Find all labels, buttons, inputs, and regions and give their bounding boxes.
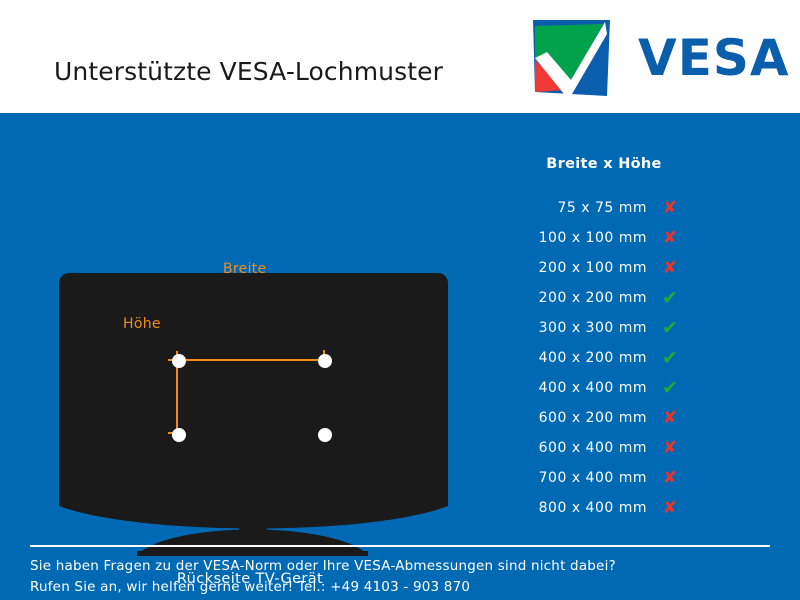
vesa-wordmark: VESA [638,32,790,84]
vesa-size-label: 400 x 400 mm [495,380,647,396]
table-row: 400 x 400 mm✔ [495,373,710,403]
footer-contact-text: Sie haben Fragen zu der VESA-Norm oder I… [30,556,775,598]
table-row: 200 x 200 mm✔ [495,283,710,313]
vesa-size-label: 100 x 100 mm [495,230,647,246]
footer-line-1: Sie haben Fragen zu der VESA-Norm oder I… [30,556,775,577]
vesa-checkmark-logo-icon [533,20,610,96]
vesa-size-label: 700 x 400 mm [495,470,647,486]
vesa-size-label: 600 x 200 mm [495,410,647,426]
supported-check-icon: ✔ [647,289,693,308]
table-row: 75 x 75 mm✘ [495,193,710,223]
unsupported-cross-icon: ✘ [647,260,693,277]
table-row: 700 x 400 mm✘ [495,463,710,493]
table-rows: 75 x 75 mm✘100 x 100 mm✘200 x 100 mm✘200… [495,193,710,523]
vesa-size-label: 75 x 75 mm [495,200,647,216]
table-row: 100 x 100 mm✘ [495,223,710,253]
supported-check-icon: ✔ [647,379,693,398]
footer-divider [30,545,770,547]
vesa-size-label: 200 x 100 mm [495,260,647,276]
unsupported-cross-icon: ✘ [647,200,693,217]
vesa-size-label: 300 x 300 mm [495,320,647,336]
table-row: 200 x 100 mm✘ [495,253,710,283]
table-row: 800 x 400 mm✘ [495,493,710,523]
table-row: 400 x 200 mm✔ [495,343,710,373]
vesa-size-label: 200 x 200 mm [495,290,647,306]
tv-rear-illustration: Breite Höhe Rückseite TV-Gerät [40,188,470,588]
table-row: 300 x 300 mm✔ [495,313,710,343]
vesa-size-label: 400 x 200 mm [495,350,647,366]
unsupported-cross-icon: ✘ [647,440,693,457]
table-row: 600 x 200 mm✘ [495,403,710,433]
height-dimension-label: Höhe [123,316,161,332]
page-title: Unterstützte VESA-Lochmuster [54,57,443,86]
table-row: 600 x 400 mm✘ [495,433,710,463]
vesa-size-label: 600 x 400 mm [495,440,647,456]
footer-line-2: Rufen Sie an, wir helfen gerne weiter! T… [30,577,775,598]
vesa-info-page: Unterstützte VESA-Lochmuster VESA [0,0,800,600]
supported-check-icon: ✔ [647,319,693,338]
vesa-size-label: 800 x 400 mm [495,500,647,516]
width-dimension-label: Breite [223,261,266,277]
content-area: Breite Höhe Rückseite TV-Gerät Breite x … [0,113,800,600]
vesa-pattern-table: Breite x Höhe 75 x 75 mm✘100 x 100 mm✘20… [495,156,710,523]
unsupported-cross-icon: ✘ [647,230,693,247]
vesa-logo: VESA [533,20,775,96]
tv-rear-view-icon [40,188,470,578]
unsupported-cross-icon: ✘ [647,500,693,517]
page-header: Unterstützte VESA-Lochmuster VESA [0,0,800,113]
table-column-header: Breite x Höhe [519,156,689,172]
unsupported-cross-icon: ✘ [647,410,693,427]
supported-check-icon: ✔ [647,349,693,368]
unsupported-cross-icon: ✘ [647,470,693,487]
